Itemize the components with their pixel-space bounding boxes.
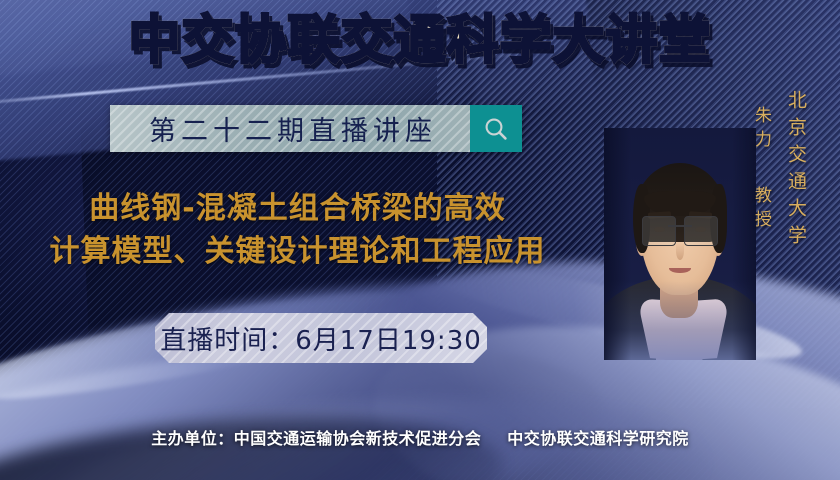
session-banner-label: 第二十二期直播讲座 <box>143 109 437 148</box>
portrait-glasses-bridge <box>668 225 692 227</box>
session-banner: 第二十二期直播讲座 <box>110 105 522 152</box>
poster-main-title: 中交协联交通科学大讲堂 <box>0 14 840 69</box>
portrait-lens-right <box>684 216 718 246</box>
portrait-glasses <box>642 216 718 244</box>
broadcast-time-banner: 直播时间：6月17日19:30 <box>155 313 487 363</box>
speaker-title: 教授 <box>752 186 769 234</box>
lecture-topic-line-2: 计算模型、关键设计理论和工程应用 <box>0 231 595 274</box>
lecture-poster: 中交协联交通科学大讲堂 第二十二期直播讲座 曲线钢-混凝土组合桥梁的高效 计算模… <box>0 0 840 480</box>
organizer-prefix: 主办单位： <box>151 429 234 448</box>
speaker-photo <box>604 128 756 360</box>
lecture-topic: 曲线钢-混凝土组合桥梁的高效 计算模型、关键设计理论和工程应用 <box>0 188 595 273</box>
portrait-lens-left <box>642 216 676 246</box>
organizer-footer: 主办单位：中国交通运输协会新技术促进分会中交协联交通科学研究院 <box>0 425 840 449</box>
session-banner-body: 第二十二期直播讲座 <box>110 105 470 152</box>
broadcast-time-text: 直播时间：6月17日19:30 <box>160 320 482 357</box>
portrait-nose <box>676 242 684 261</box>
speaker-name: 朱力 <box>752 106 769 154</box>
speaker-portrait-image <box>604 128 756 360</box>
organizer-name-2: 中交协联交通科学研究院 <box>507 429 689 448</box>
organizer-name-1: 中国交通运输协会新技术促进分会 <box>234 429 482 448</box>
lecture-topic-line-1: 曲线钢-混凝土组合桥梁的高效 <box>0 188 595 231</box>
speaker-organization: 北京交通大学 <box>786 90 805 252</box>
search-icon[interactable] <box>470 105 522 152</box>
